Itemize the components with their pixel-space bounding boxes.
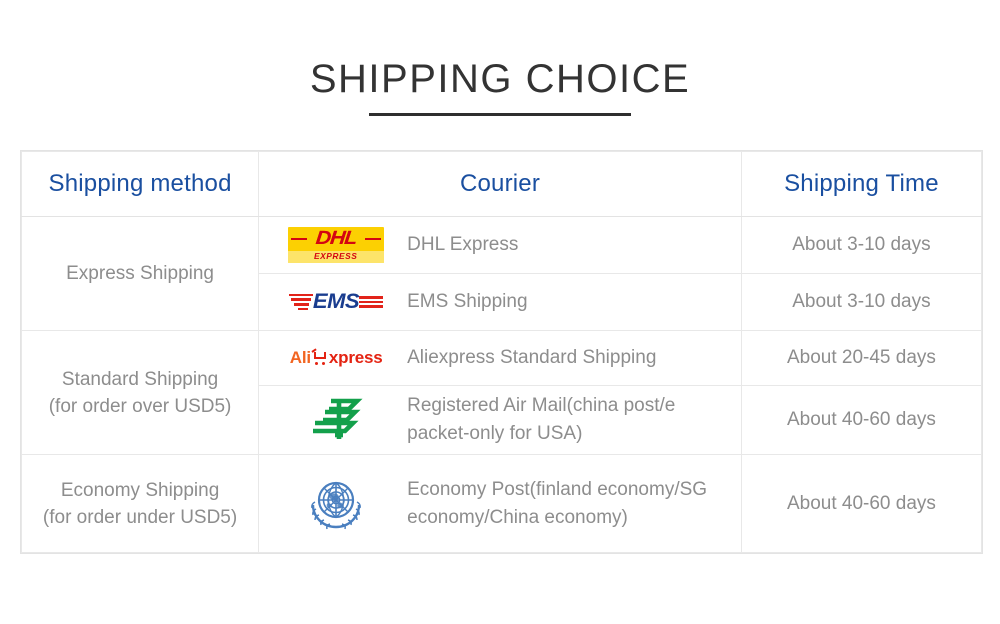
shopping-cart-icon [312,351,328,365]
logo-slot [281,397,391,443]
ems-stripes-left-icon [289,294,313,310]
table-row: Economy Shipping (for order under USD5) [22,455,982,553]
courier-name: Aliexpress Standard Shipping [391,344,656,372]
aliexpress-suffix: xpress [329,348,383,368]
method-name: Express Shipping [22,260,258,287]
shipping-choice-table: Shipping method Courier Shipping Time Ex… [20,150,983,554]
table-header-row: Shipping method Courier Shipping Time [22,152,982,217]
shipping-time-value: About 3-10 days [741,273,981,330]
method-note: (for order under USD5) [22,504,258,531]
shipping-method-standard: Standard Shipping (for order over USD5) [22,331,259,455]
method-note: (for order over USD5) [22,393,258,420]
logo-slot [281,475,391,533]
courier-cell-china-post: Registered Air Mail(china post/e packet-… [259,386,742,455]
ems-logo: EMS [290,287,382,317]
table-row: Standard Shipping (for order over USD5) … [22,331,982,386]
dhl-subtext: EXPRESS [314,252,357,261]
courier-cell-dhl: DHL EXPRESS DHL Express [259,216,742,273]
logo-slot: DHL EXPRESS [281,227,391,263]
courier-name: Registered Air Mail(china post/e packet-… [391,392,741,448]
logo-slot: Ali xpress [281,348,391,368]
method-name: Economy Shipping [22,477,258,504]
table-row: Express Shipping DHL [22,216,982,273]
shipping-time-value: About 3-10 days [741,216,981,273]
column-header-shipping-method: Shipping method [22,152,259,217]
logo-slot: EMS [281,287,391,317]
dhl-logo: DHL EXPRESS [288,227,384,263]
page-title: SHIPPING CHOICE [0,55,1000,103]
china-post-logo [309,397,363,443]
shipping-choice-page: SHIPPING CHOICE Shipping method Courier … [0,0,1000,624]
shipping-method-economy: Economy Shipping (for order under USD5) [22,455,259,553]
dhl-bar-right-icon [365,238,381,241]
ems-stripes-right-icon [359,296,383,308]
column-header-courier: Courier [259,152,742,217]
united-nations-logo [305,475,367,533]
shipping-method-express: Express Shipping [22,216,259,331]
courier-cell-ems: EMS EMS Shipping [259,273,742,330]
shipping-time-value: About 20-45 days [741,331,981,386]
courier-cell-economy-post: Economy Post(finland economy/SG economy/… [259,455,742,553]
aliexpress-logo: Ali xpress [290,348,383,368]
shipping-time-value: About 40-60 days [741,386,981,455]
dhl-wordmark: DHL [315,228,358,250]
method-name: Standard Shipping [22,366,258,393]
courier-cell-aliexpress: Ali xpress Aliexpress Standard Shipping [259,331,742,386]
dhl-bar-left-icon [291,238,307,241]
aliexpress-prefix: Ali [290,348,311,368]
courier-name: Economy Post(finland economy/SG economy/… [391,476,741,532]
ems-wordmark: EMS [313,290,359,314]
shipping-time-value: About 40-60 days [741,455,981,553]
courier-name: DHL Express [391,231,518,259]
courier-name: EMS Shipping [391,288,527,316]
column-header-shipping-time: Shipping Time [741,152,981,217]
title-underline-divider [369,113,631,116]
page-title-block: SHIPPING CHOICE [0,55,1000,116]
